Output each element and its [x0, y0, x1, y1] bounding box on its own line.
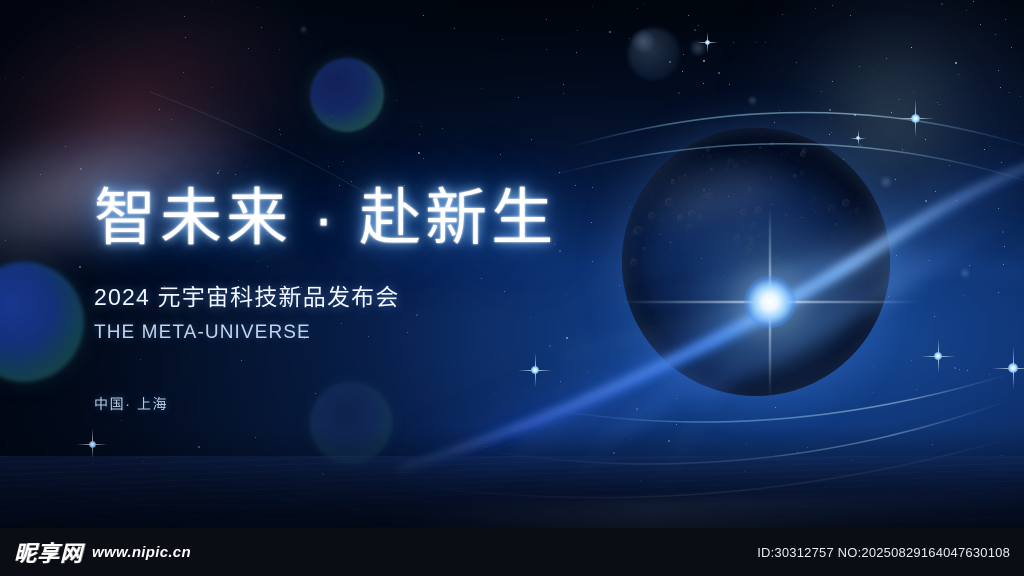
asset-id-text: ID:30312757 NO:20250829164047630108	[757, 545, 1010, 560]
watermark-bar: 昵享网 www.nipic.cn ID:30312757 NO:20250829…	[0, 528, 1024, 576]
subtitle-english: THE META-UNIVERSE	[94, 322, 614, 344]
nipic-logo: 昵享网	[14, 536, 83, 568]
glint-core	[1008, 363, 1018, 373]
location-label: 中国· 上海	[94, 394, 614, 414]
watermark-brand: 昵享网 www.nipic.cn	[14, 536, 191, 568]
subtitle-chinese: 2024 元宇宙科技新品发布会	[94, 278, 614, 312]
glint-core	[705, 40, 710, 45]
orb-top-left	[310, 58, 384, 132]
glint-core	[934, 352, 942, 360]
orb-bokeh-top	[628, 28, 680, 80]
headline-block: 智未来 · 赴新生 2024 元宇宙科技新品发布会 THE META-UNIVE…	[94, 186, 614, 414]
flare-core	[744, 276, 796, 328]
glint-core	[911, 114, 920, 123]
page-title: 智未来 · 赴新生	[94, 186, 614, 252]
nipic-url: www.nipic.cn	[92, 544, 191, 561]
glint-core	[856, 136, 860, 140]
poster-canvas: 智未来 · 赴新生 2024 元宇宙科技新品发布会 THE META-UNIVE…	[0, 0, 1024, 576]
